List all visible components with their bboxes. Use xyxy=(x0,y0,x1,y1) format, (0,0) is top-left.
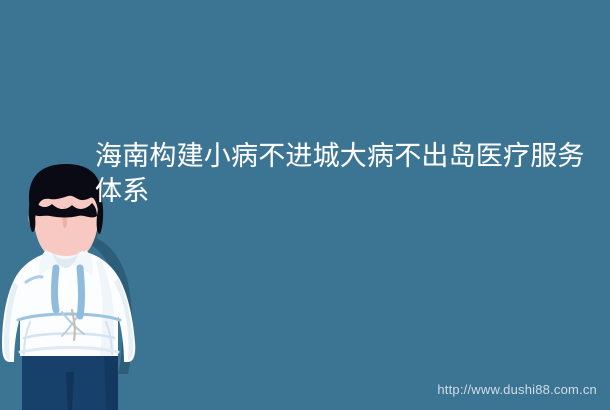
drawstring-left xyxy=(55,268,57,310)
poster-canvas: 海南构建小病不进城大病不出岛医疗服务体系 http://www.dushi88.… xyxy=(0,0,610,410)
pants xyxy=(22,352,118,410)
page-title: 海南构建小病不进城大病不出岛医疗服务体系 xyxy=(95,139,595,209)
drawstring-right xyxy=(80,268,82,316)
watermark-url: http://www.dushi88.com.cn xyxy=(437,382,597,397)
